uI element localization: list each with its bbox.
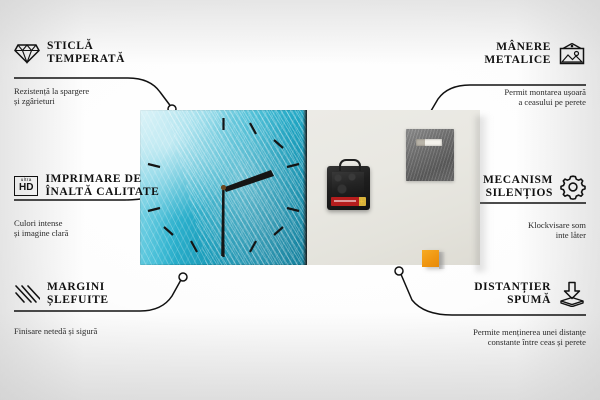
hanger-slot — [416, 139, 442, 146]
callout-silent-mechanism[interactable]: MECANISM SILENȚIOS Klockvisare som inte … — [406, 174, 586, 241]
callout-title: IMPRIMARE DE ÎNALTĂ CALITATE — [45, 173, 159, 199]
ultra-hd-icon: ultra HD — [14, 176, 38, 196]
callout-hd-print[interactable]: ultra HD IMPRIMARE DE ÎNALTĂ CALITATE Cu… — [14, 173, 159, 239]
callout-subtitle: Rezistență la spargere și zgârieturi — [14, 86, 125, 107]
diamond-icon — [14, 42, 40, 64]
callout-title: STICLĂ TEMPERATĂ — [47, 40, 125, 66]
polished-edges-icon — [14, 283, 40, 305]
wall-hanger-icon — [558, 42, 586, 66]
ultra-hd-icon-main-label: HD — [19, 183, 33, 193]
callout-tempered-glass[interactable]: STICLĂ TEMPERATĂ Rezistență la spargere … — [14, 40, 125, 107]
clock-center-cap — [221, 185, 226, 190]
callout-polished-edges[interactable]: MARGINI ȘLEFUITE Finisare netedă și sigu… — [14, 281, 109, 336]
foam-spacer-icon — [558, 281, 586, 307]
connector-dot-foam-spacer — [395, 267, 403, 275]
callout-head: MARGINI ȘLEFUITE — [14, 281, 109, 307]
callout-subtitle: Klockvisare som inte låter — [406, 220, 586, 241]
gear-icon — [560, 174, 586, 200]
clock-dial — [140, 110, 307, 265]
callout-subtitle: Permit montarea ușoară a ceasului pe per… — [396, 87, 586, 108]
callout-subtitle: Permite menținerea unei distanțe constan… — [386, 327, 586, 348]
minute-hand — [221, 188, 224, 257]
callout-head: MECANISM SILENȚIOS — [406, 174, 586, 200]
clock-mechanism: + — [327, 166, 370, 210]
battery: + — [331, 197, 366, 206]
mechanism-detail — [332, 172, 364, 196]
callout-subtitle: Culori intense și imagine clară — [14, 218, 159, 239]
mechanism-hook — [339, 159, 361, 171]
callout-head: ultra HD IMPRIMARE DE ÎNALTĂ CALITATE — [14, 173, 159, 199]
callout-title: MÂNERE METALICE — [484, 41, 551, 67]
callout-title: DISTANȚIER SPUMĂ — [474, 281, 551, 307]
infographic-canvas: + STICLĂ TEMPERATĂ Rezistență la sparger… — [0, 0, 600, 400]
callout-head: DISTANȚIER SPUMĂ — [386, 281, 586, 307]
callout-title: MECANISM SILENȚIOS — [483, 174, 553, 200]
foam-spacer-side — [439, 252, 445, 269]
connector-dot-polished-edges — [179, 273, 187, 281]
hour-hand — [224, 170, 275, 192]
battery-plus-terminal: + — [359, 198, 364, 205]
callout-head: MÂNERE METALICE — [396, 41, 586, 67]
callout-subtitle: Finisare netedă și sigură — [14, 326, 109, 336]
callout-foam-spacer[interactable]: DISTANȚIER SPUMĂ Permite menținerea unei… — [386, 281, 586, 348]
clock-face-panel — [140, 110, 307, 265]
callout-metal-handles[interactable]: MÂNERE METALICE Permit montarea ușoară a… — [396, 41, 586, 108]
callout-head: STICLĂ TEMPERATĂ — [14, 40, 125, 66]
foam-spacer-piece — [422, 250, 439, 267]
callout-title: MARGINI ȘLEFUITE — [47, 281, 109, 307]
